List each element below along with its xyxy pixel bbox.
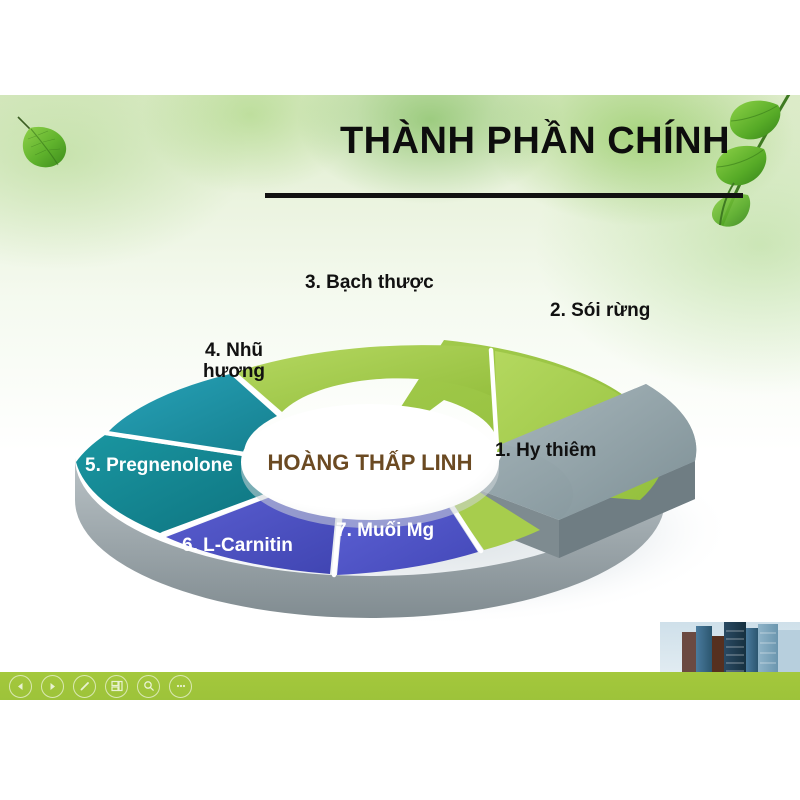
- player-toolbar: [0, 672, 800, 700]
- title-underline: [265, 193, 743, 198]
- pie-chart-svg: HOÀNG THẤP LINH: [40, 200, 770, 660]
- play-icon[interactable]: [41, 675, 64, 698]
- bottom-margin: [0, 700, 800, 800]
- page-title: THÀNH PHẦN CHÍNH: [320, 120, 750, 163]
- leaf-icon: [8, 113, 78, 175]
- search-icon[interactable]: [137, 675, 160, 698]
- top-margin: [0, 0, 800, 95]
- center-label: HOÀNG THẤP LINH: [268, 450, 473, 475]
- previous-icon[interactable]: [9, 675, 32, 698]
- more-icon[interactable]: [169, 675, 192, 698]
- pen-icon[interactable]: [73, 675, 96, 698]
- slide-canvas: THÀNH PHẦN CHÍNH: [0, 95, 800, 710]
- pie-chart: HOÀNG THẤP LINH 1. Hy thiêm 2. Sói rừng …: [40, 200, 770, 660]
- layout-icon[interactable]: [105, 675, 128, 698]
